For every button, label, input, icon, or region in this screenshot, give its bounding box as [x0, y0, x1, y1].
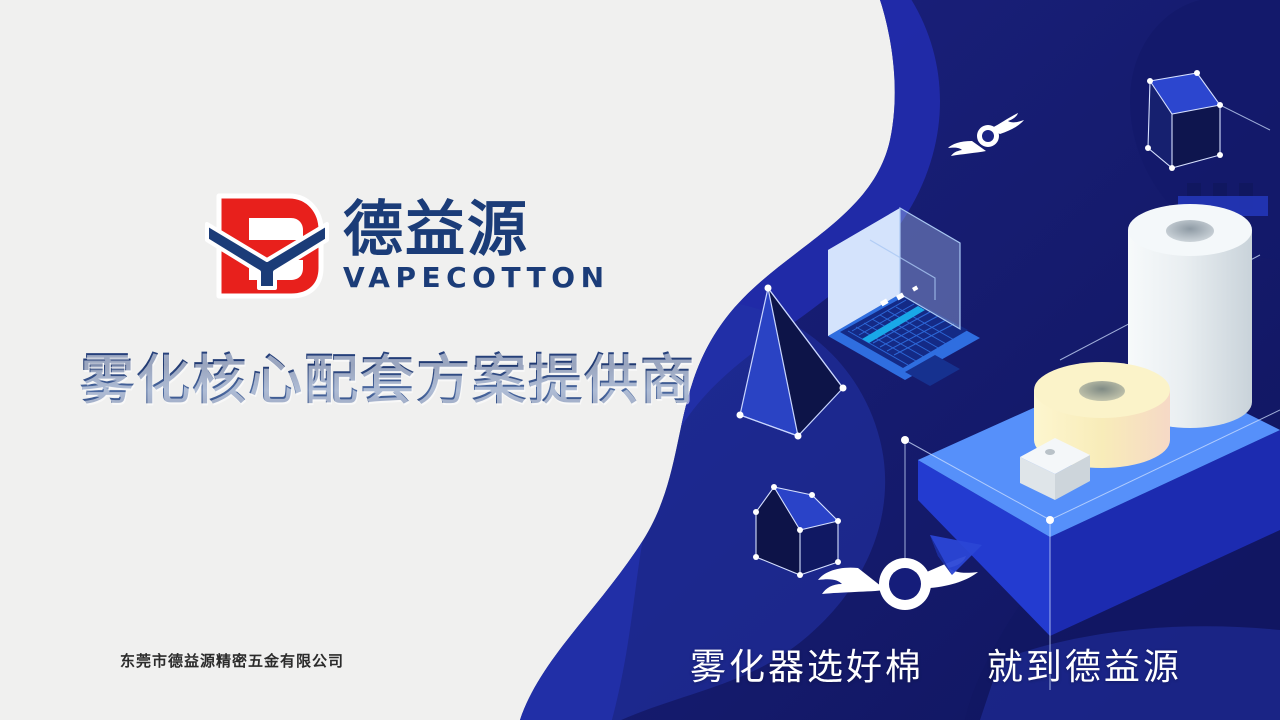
slide-canvas: 德益源 VAPECOTTON 雾化核心配套方案提供商 东莞市德益源精密五金有限公… [0, 0, 1280, 720]
brand-logo: 德益源 VAPECOTTON [205, 190, 610, 302]
dyy-monogram-logo-icon [205, 190, 329, 302]
logo-english-name: VAPECOTTON [343, 264, 610, 292]
page-headline: 雾化核心配套方案提供商 [80, 335, 696, 414]
slogan: 雾化器选好棉 就到德益源 [690, 638, 1182, 690]
logo-chinese-name: 德益源 [343, 200, 529, 260]
company-name: 东莞市德益源精密五金有限公司 [120, 650, 344, 671]
slogan-part-2: 就到德益源 [987, 647, 1182, 688]
slogan-part-1: 雾化器选好棉 [690, 647, 924, 688]
